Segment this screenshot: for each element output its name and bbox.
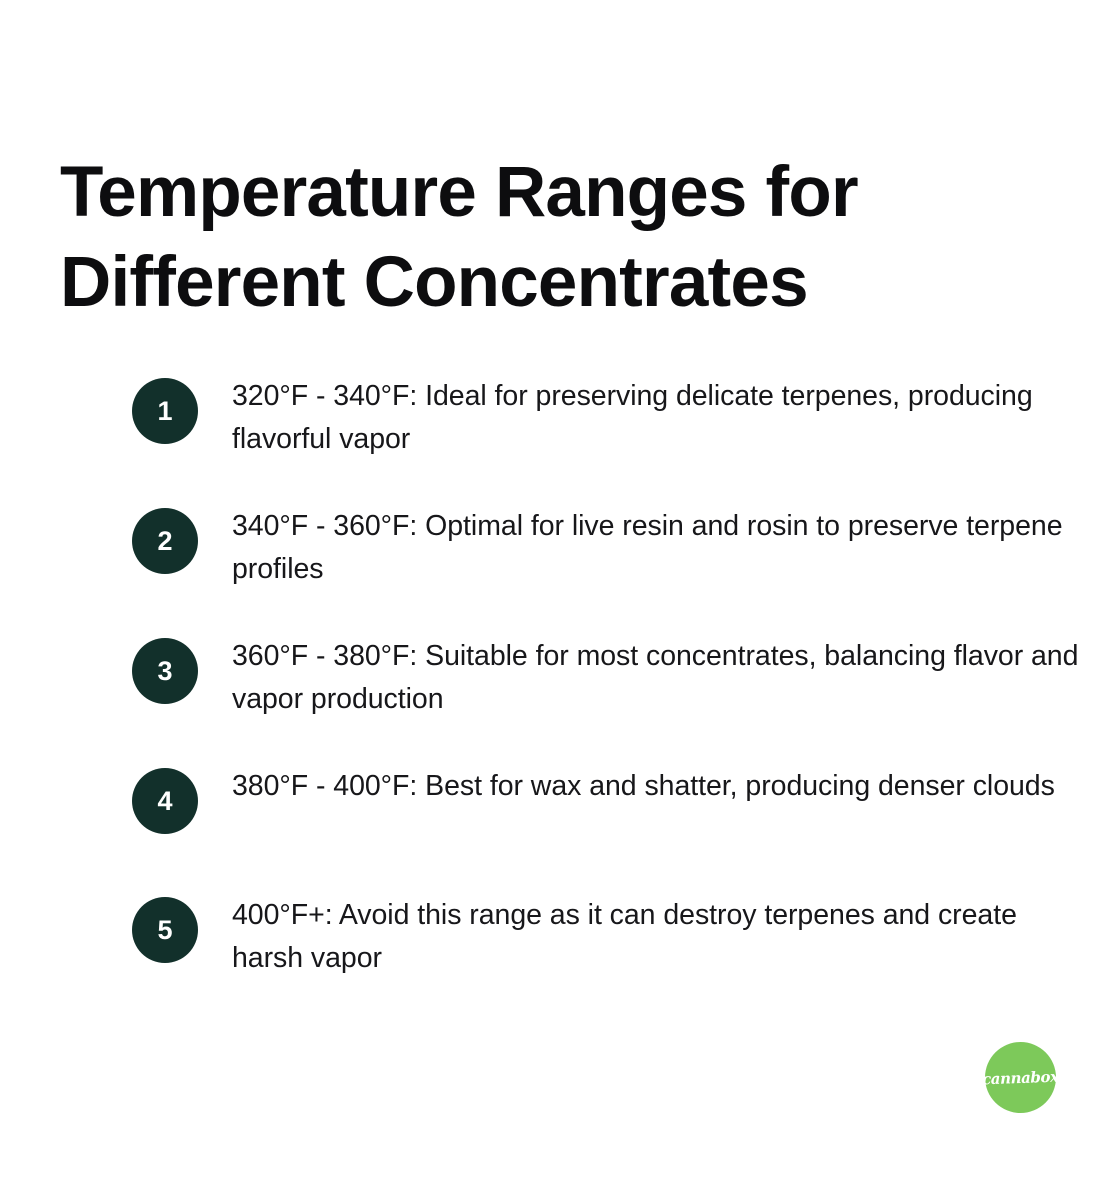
list-item-text: 400°F+: Avoid this range as it can destr…: [232, 893, 1082, 980]
list-item-number-badge: 4: [132, 768, 198, 834]
list-item-number-badge: 5: [132, 897, 198, 963]
list-item: 5 400°F+: Avoid this range as it can des…: [132, 893, 1082, 980]
temperature-range-list: 1 320°F - 340°F: Ideal for preserving de…: [132, 374, 1082, 980]
list-item: 2 340°F - 360°F: Optimal for live resin …: [132, 504, 1082, 591]
list-item-number-badge: 2: [132, 508, 198, 574]
list-item: 1 320°F - 340°F: Ideal for preserving de…: [132, 374, 1082, 461]
list-item-number-badge: 3: [132, 638, 198, 704]
list-item-text: 340°F - 360°F: Optimal for live resin an…: [232, 504, 1082, 591]
list-item: 3 360°F - 380°F: Suitable for most conce…: [132, 634, 1082, 721]
cannabox-logo: cannabox: [985, 1042, 1056, 1113]
cannabox-logo-wordmark: cannabox: [982, 1067, 1059, 1088]
list-item-text: 360°F - 380°F: Suitable for most concent…: [232, 634, 1082, 721]
page-title: Temperature Ranges for Different Concent…: [60, 148, 940, 328]
list-item-text: 320°F - 340°F: Ideal for preserving deli…: [232, 374, 1082, 461]
list-item-number-badge: 1: [132, 378, 198, 444]
infographic-page: Temperature Ranges for Different Concent…: [0, 0, 1120, 1178]
list-item: 4 380°F - 400°F: Best for wax and shatte…: [132, 764, 1082, 850]
list-item-text: 380°F - 400°F: Best for wax and shatter,…: [232, 764, 1082, 808]
